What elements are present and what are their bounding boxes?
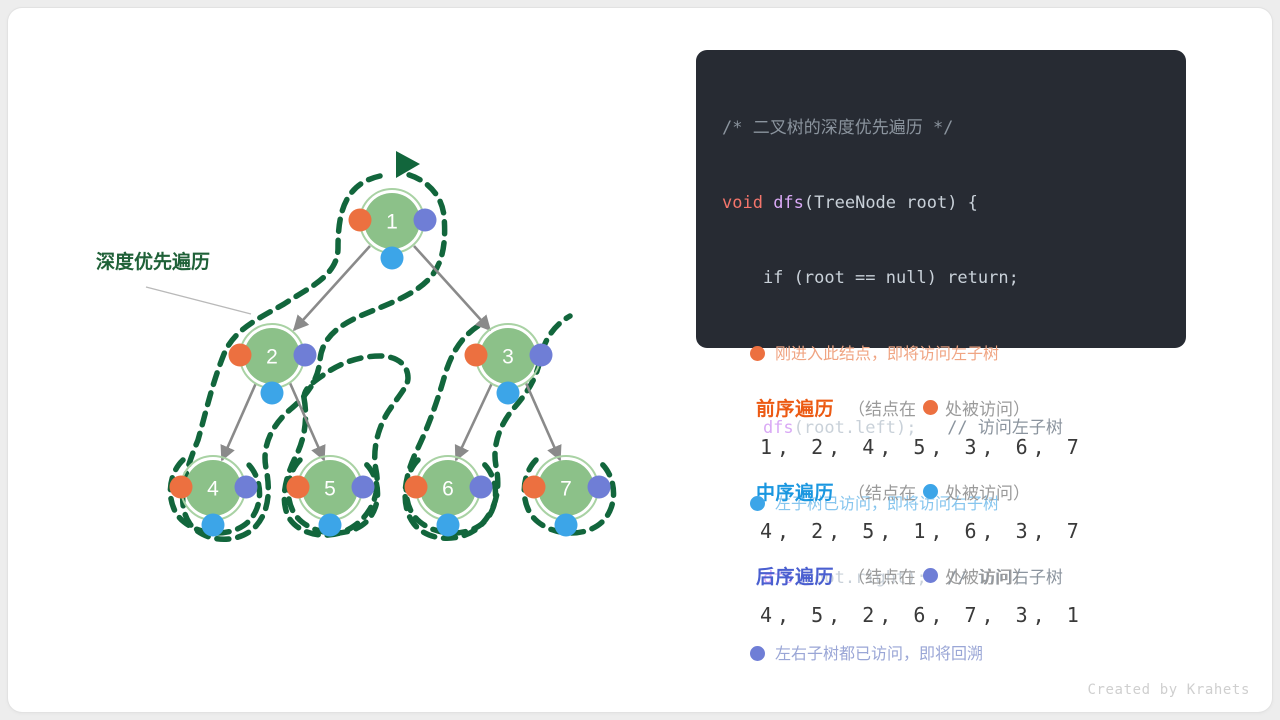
traversal-preorder-sequence: 1, 2, 4, 5, 3, 6, 7 xyxy=(756,424,1186,470)
node-3-dot-orange xyxy=(465,344,488,367)
paren-close-text: 处被访问） xyxy=(945,563,1030,588)
traversal-inorder-note: （结点在 处被访问） xyxy=(848,479,1030,504)
paren-close-text: 处被访问） xyxy=(945,479,1030,504)
traversal-inorder-name: 中序遍历 xyxy=(756,478,834,505)
blue-dot-icon xyxy=(923,484,938,499)
annotation-orange-text: 刚进入此结点，即将访问左子树 xyxy=(775,341,999,366)
node-7-dot-blue xyxy=(555,514,578,537)
paren-open-text: （结点在 xyxy=(848,479,916,504)
dfs-callout-leader-line xyxy=(146,287,251,314)
node-7-label: 7 xyxy=(560,478,572,501)
node-3-label: 3 xyxy=(502,346,514,369)
edge-3-7 xyxy=(526,383,560,460)
node-7-dot-purple xyxy=(588,476,611,499)
node-3-dot-blue xyxy=(497,382,520,405)
purple-dot-icon xyxy=(923,568,938,583)
figure-card: 1 2 3 xyxy=(8,8,1272,712)
binary-tree-diagram: 1 2 3 xyxy=(8,8,688,712)
annotation-purple-text: 左右子树都已访问，即将回溯 xyxy=(775,641,983,666)
node-3-dot-purple xyxy=(530,344,553,367)
node-1-dot-blue xyxy=(381,247,404,270)
node-4-label: 4 xyxy=(207,478,219,501)
node-1-dot-orange xyxy=(349,209,372,232)
code-keyword-void: void xyxy=(722,193,763,213)
paren-open-text: （结点在 xyxy=(848,395,916,420)
code-line-signature: void dfs(TreeNode root) { xyxy=(722,191,1164,216)
traversal-postorder-note: （结点在 处被访问） xyxy=(848,563,1030,588)
orange-dot-icon xyxy=(923,400,938,415)
node-6-dot-blue xyxy=(437,514,460,537)
dfs-callout-label: 深度优先遍历 xyxy=(96,250,210,273)
node-6-label: 6 xyxy=(442,478,454,501)
traversal-legend: 前序遍历 （结点在 处被访问） 1, 2, 4, 5, 3, 6, 7 中序遍历… xyxy=(756,390,1186,642)
code-signature-rest: (TreeNode root) { xyxy=(804,193,978,213)
traversal-postorder-name: 后序遍历 xyxy=(756,562,834,589)
code-fn-dfs: dfs xyxy=(763,193,804,213)
traversal-preorder-heading: 前序遍历 （结点在 处被访问） xyxy=(756,390,1186,424)
node-2-dot-purple xyxy=(294,344,317,367)
edge-2-4 xyxy=(222,383,256,460)
code-annotation-postorder: 左右子树都已访问，即将回溯 xyxy=(722,641,1164,666)
traversal-preorder: 前序遍历 （结点在 处被访问） 1, 2, 4, 5, 3, 6, 7 xyxy=(756,390,1186,470)
traversal-inorder-sequence: 4, 2, 5, 1, 6, 3, 7 xyxy=(756,508,1186,554)
traversal-postorder-heading: 后序遍历 （结点在 处被访问） xyxy=(756,558,1186,592)
traversal-inorder: 中序遍历 （结点在 处被访问） 4, 2, 5, 1, 6, 3, 7 xyxy=(756,474,1186,554)
code-line-comment: /* 二叉树的深度优先遍历 */ xyxy=(722,116,1164,141)
code-annotation-preorder: 刚进入此结点，即将访问左子树 xyxy=(722,341,1164,366)
node-5-label: 5 xyxy=(324,478,336,501)
code-line-null-check: if (root == null) return; xyxy=(722,266,1164,291)
tree-node-3[interactable]: 3 xyxy=(465,324,553,405)
node-5-dot-orange xyxy=(287,476,310,499)
node-5-dot-blue xyxy=(319,514,342,537)
edge-3-6 xyxy=(456,383,492,460)
traversal-preorder-name: 前序遍历 xyxy=(756,394,834,421)
purple-dot-icon xyxy=(750,646,765,661)
code-comment-text: /* 二叉树的深度优先遍历 */ xyxy=(722,118,953,138)
edge-1-3 xyxy=(414,246,490,330)
node-7-dot-orange xyxy=(523,476,546,499)
node-5-dot-purple xyxy=(352,476,375,499)
node-1-label: 1 xyxy=(386,211,398,234)
node-2-label: 2 xyxy=(266,346,278,369)
traversal-preorder-note: （结点在 处被访问） xyxy=(848,395,1030,420)
node-2-dot-blue xyxy=(261,382,284,405)
traversal-postorder-sequence: 4, 5, 2, 6, 7, 3, 1 xyxy=(756,592,1186,638)
orange-dot-icon xyxy=(750,346,765,361)
node-1-dot-purple xyxy=(414,209,437,232)
node-2-dot-orange xyxy=(229,344,252,367)
node-4-dot-purple xyxy=(235,476,258,499)
watermark-credit: Created by Krahets xyxy=(1087,682,1250,698)
dfs-callout: 深度优先遍历 xyxy=(96,250,251,314)
paren-open-text: （结点在 xyxy=(848,563,916,588)
node-4-dot-orange xyxy=(170,476,193,499)
traversal-postorder: 后序遍历 （结点在 处被访问） 4, 5, 2, 6, 7, 3, 1 xyxy=(756,558,1186,638)
traversal-inorder-heading: 中序遍历 （结点在 处被访问） xyxy=(756,474,1186,508)
node-6-dot-orange xyxy=(405,476,428,499)
node-4-dot-blue xyxy=(202,514,225,537)
code-snippet: /* 二叉树的深度优先遍历 */ void dfs(TreeNode root)… xyxy=(696,50,1186,348)
node-6-dot-purple xyxy=(470,476,493,499)
paren-close-text: 处被访问） xyxy=(945,395,1030,420)
